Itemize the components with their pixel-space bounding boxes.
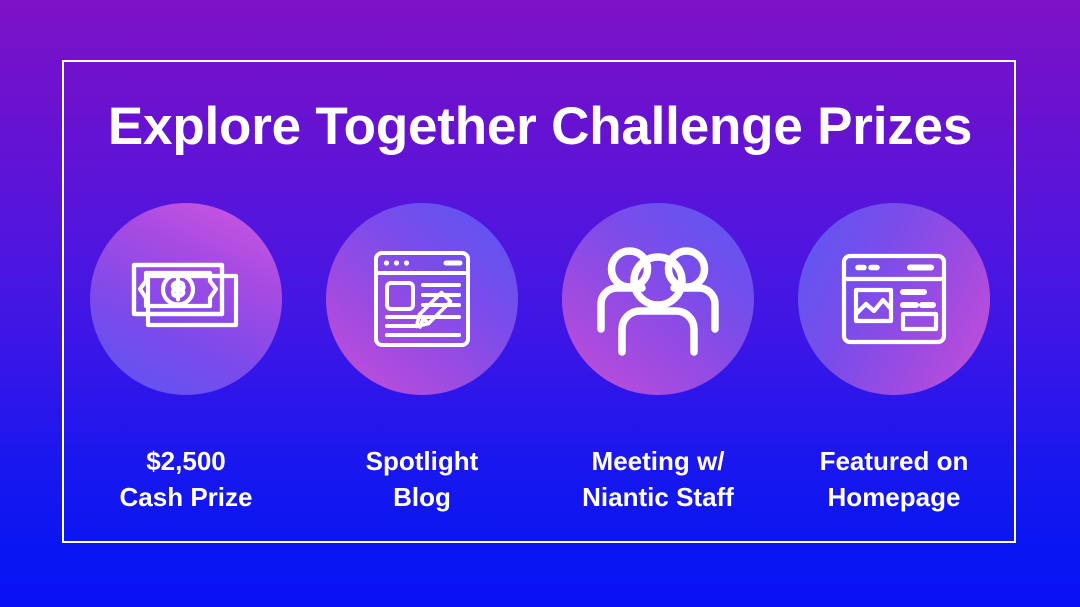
prize-item-homepage: Featured on Homepage	[788, 203, 1000, 515]
prize-label-line2: Blog	[366, 479, 479, 515]
prizes-poster: Explore Together Challenge Prizes	[0, 0, 1080, 607]
prize-item-blog: Spotlight Blog	[316, 203, 528, 515]
prize-label: Featured on Homepage	[820, 443, 969, 515]
prize-label-line2: Homepage	[820, 479, 969, 515]
prize-label: Meeting w/ Niantic Staff	[582, 443, 734, 515]
prize-item-meeting: Meeting w/ Niantic Staff	[552, 203, 764, 515]
blog-post-editor-icon	[370, 247, 474, 351]
prize-icon-circle	[562, 203, 754, 395]
page-title: Explore Together Challenge Prizes	[0, 96, 1080, 158]
prize-icon-circle	[798, 203, 990, 395]
cash-banknote-icon	[126, 249, 246, 349]
prize-label-line1: $2,500	[120, 443, 253, 479]
group-of-people-icon	[596, 241, 720, 357]
prize-icon-circle	[326, 203, 518, 395]
prize-label-line1: Spotlight	[366, 443, 479, 479]
prize-item-cash: $2,500 Cash Prize	[80, 203, 292, 515]
webpage-layout-icon	[838, 250, 950, 348]
prize-list: $2,500 Cash Prize	[80, 203, 1000, 515]
prize-label-line1: Featured on	[820, 443, 969, 479]
prize-label: Spotlight Blog	[366, 443, 479, 515]
prize-icon-circle	[90, 203, 282, 395]
prize-label-line1: Meeting w/	[582, 443, 734, 479]
prize-label-line2: Cash Prize	[120, 479, 253, 515]
prize-label: $2,500 Cash Prize	[120, 443, 253, 515]
prize-label-line2: Niantic Staff	[582, 479, 734, 515]
